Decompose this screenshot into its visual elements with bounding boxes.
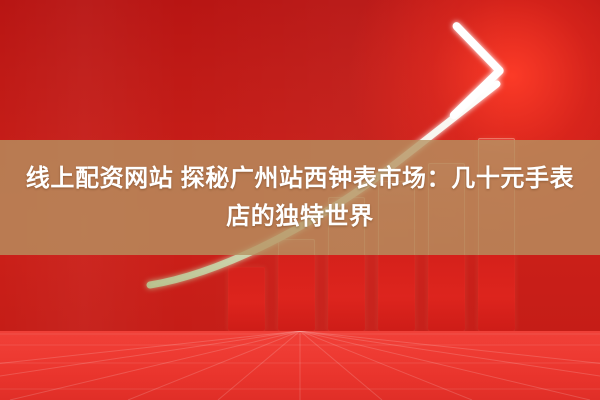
floor-grid-lines [0,331,600,400]
promo-banner: 线上配资网站 探秘广州站西钟表市场：几十元手表店的独特世界 [0,0,600,400]
floor-surface [0,331,600,400]
arrow-head [411,26,501,116]
headline-band: 线上配资网站 探秘广州站西钟表市场：几十元手表店的独特世界 [0,140,600,255]
page-title: 线上配资网站 探秘广州站西钟表市场：几十元手表店的独特世界 [20,160,580,236]
